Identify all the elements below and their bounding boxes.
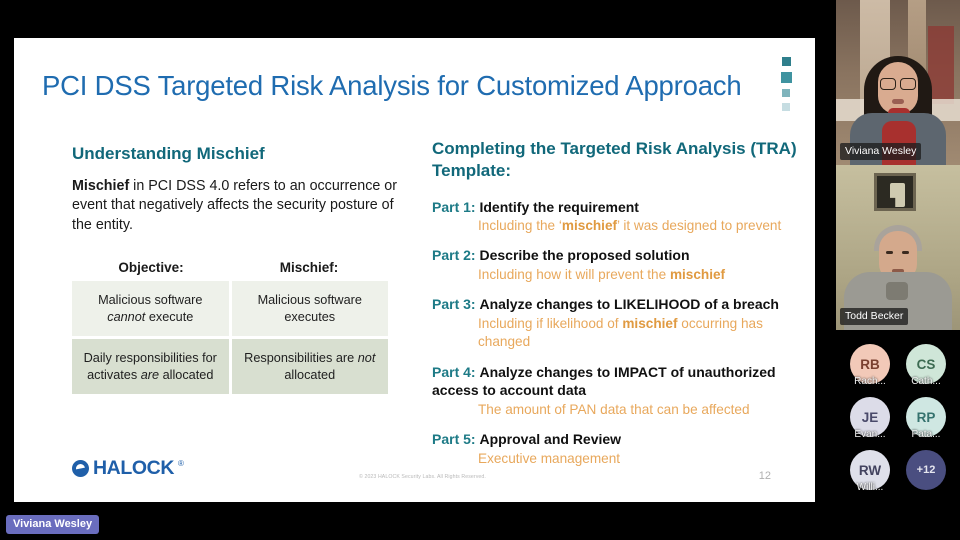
participant-name: Rach... [854, 376, 886, 387]
participant-rail: Viviana Wesley Todd Becker RB Rach [836, 0, 960, 540]
part-label: Part 1: [432, 199, 476, 215]
glasses-icon [880, 78, 916, 88]
part-subtext: Including how it will prevent the mischi… [432, 266, 798, 284]
cell-text-post: allocated [159, 368, 213, 382]
participant-name: Cath... [911, 376, 940, 387]
participant-name: Evan... [854, 429, 885, 440]
participant-tile-je[interactable]: JE Evan... [842, 397, 898, 440]
video-tile-name-label: Todd Becker [840, 308, 908, 325]
part-title: Approval and Review [479, 431, 621, 447]
video-tile-todd-becker[interactable]: Todd Becker [836, 165, 960, 330]
table-cell-objective: Daily responsibilities for activates are… [72, 339, 229, 394]
part-subtext-post: ’ it was designed to prevent [617, 218, 781, 233]
cell-text-post: execute [145, 310, 193, 324]
avatar-initials: RW [859, 463, 881, 478]
tra-part-1: Part 1: Identify the requirement Includi… [432, 198, 798, 236]
person-collar [886, 282, 908, 300]
part-main-line: Part 3: Analyze changes to LIKELIHOOD of… [432, 295, 798, 314]
table-header-row: Objective: Mischief: [72, 260, 388, 275]
table-cell-mischief: Malicious software executes [232, 281, 389, 336]
copyright-notice: © 2023 HALOCK Security Labs. All Rights … [359, 474, 486, 480]
table-row: Malicious software cannot execute Malici… [72, 281, 388, 336]
avatar-initials: RB [860, 357, 880, 372]
video-tile-name-label: Viviana Wesley [840, 143, 921, 160]
table-row: Daily responsibilities for activates are… [72, 339, 388, 394]
part-subtext: Executive management [432, 450, 798, 468]
cell-text-post: allocated [284, 368, 335, 382]
decorative-squares [775, 57, 797, 117]
part-subtext-pre: Including if likelihood of [478, 316, 622, 331]
cell-text-emphasis: are [141, 368, 159, 382]
participant-name: Pata... [912, 429, 941, 440]
person-eye-right [902, 251, 909, 254]
tra-part-4: Part 4: Analyze changes to IMPACT of una… [432, 363, 798, 420]
participant-tile-rw[interactable]: RW Willi... [842, 450, 898, 493]
slide-page-number: 12 [759, 470, 771, 482]
table-cell-objective: Malicious software cannot execute [72, 281, 229, 336]
part-subtext-pre: Including how it will prevent the [478, 267, 670, 282]
participant-name: Willi... [857, 482, 884, 493]
tra-part-2: Part 2: Describe the proposed solution I… [432, 246, 798, 284]
part-subtext: Including the ‘mischief’ it was designed… [432, 217, 798, 235]
presentation-slide: PCI DSS Targeted Risk Analysis for Custo… [14, 38, 815, 502]
video-background [836, 0, 960, 165]
halock-trademark-symbol: ® [178, 459, 184, 468]
part-main-line: Part 1: Identify the requirement [432, 198, 798, 217]
page-title: PCI DSS Targeted Risk Analysis for Custo… [42, 70, 772, 102]
left-column: Understanding Mischief Mischief in PCI D… [72, 143, 402, 236]
part-label: Part 3: [432, 296, 476, 312]
cell-text-emphasis: not [358, 351, 376, 365]
person-mouth [892, 99, 904, 104]
avatar-initials: JE [862, 410, 879, 425]
part-main-line: Part 5: Approval and Review [432, 430, 798, 449]
decorative-square-1 [782, 57, 791, 66]
objective-mischief-table: Objective: Mischief: Malicious software … [72, 260, 388, 394]
right-column: Completing the Targeted Risk Analysis (T… [432, 138, 798, 479]
tra-part-5: Part 5: Approval and Review Executive ma… [432, 430, 798, 468]
part-title: Analyze changes to IMPACT of unauthorize… [432, 364, 776, 399]
active-speaker-badge: Viviana Wesley [6, 515, 99, 534]
overflow-badge: +12 [906, 450, 946, 490]
cell-text-pre: Malicious software [98, 293, 202, 307]
avatar-initials: RP [917, 410, 936, 425]
part-label: Part 4: [432, 364, 476, 380]
part-main-line: Part 4: Analyze changes to IMPACT of una… [432, 363, 798, 400]
part-label: Part 2: [432, 247, 476, 263]
part-main-line: Part 2: Describe the proposed solution [432, 246, 798, 265]
part-subtext: The amount of PAN data that can be affec… [432, 401, 798, 419]
part-subtext-bold: mischief [622, 316, 677, 331]
part-subtext-bold: mischief [562, 218, 617, 233]
decorative-square-4 [782, 103, 790, 111]
table-header-objective: Objective: [72, 260, 230, 275]
part-subtext-pre: Including the ‘ [478, 218, 562, 233]
part-label: Part 5: [432, 431, 476, 447]
halock-globe-icon [72, 460, 89, 477]
video-background [836, 165, 960, 330]
part-subtext-pre: The amount of PAN data that can be affec… [478, 402, 750, 417]
tra-part-3: Part 3: Analyze changes to LIKELIHOOD of… [432, 295, 798, 351]
video-tile-viviana-wesley[interactable]: Viviana Wesley [836, 0, 960, 165]
decorative-square-2 [781, 72, 792, 83]
right-section-heading: Completing the Targeted Risk Analysis (T… [432, 138, 798, 182]
participant-avatar-grid: RB Rach... CS Cath... JE Evan... RP [836, 336, 960, 501]
part-subtext: Including if likelihood of mischief occu… [432, 315, 798, 352]
table-header-mischief: Mischief: [230, 260, 388, 275]
part-subtext-pre: Executive management [478, 451, 620, 466]
left-section-heading: Understanding Mischief [72, 143, 402, 165]
part-title: Analyze changes to LIKELIHOOD of a breac… [479, 296, 779, 312]
cell-text-pre: Malicious software executes [258, 293, 362, 324]
mischief-definition-term: Mischief [72, 178, 129, 194]
part-title: Identify the requirement [479, 199, 638, 215]
participant-tile-rb[interactable]: RB Rach... [842, 344, 898, 387]
participant-overflow-tile[interactable]: +12 [898, 450, 954, 493]
halock-wordmark: HALOCK [93, 457, 174, 480]
meeting-screen: PCI DSS Targeted Risk Analysis for Custo… [0, 0, 960, 540]
background-picture-frame [874, 173, 916, 211]
participant-tile-rp[interactable]: RP Pata... [898, 397, 954, 440]
halock-logo: HALOCK ® [72, 457, 184, 480]
participant-tile-cs[interactable]: CS Cath... [898, 344, 954, 387]
decorative-square-3 [782, 89, 790, 97]
part-subtext-bold: mischief [670, 267, 725, 282]
mischief-definition: Mischief in PCI DSS 4.0 refers to an occ… [72, 177, 402, 236]
person-eye-left [886, 251, 893, 254]
table-cell-mischief: Responsibilities are not allocated [232, 339, 389, 394]
cell-text-emphasis: cannot [107, 310, 145, 324]
cell-text-pre: Responsibilities are [244, 351, 358, 365]
part-title: Describe the proposed solution [479, 247, 689, 263]
avatar-initials: CS [917, 357, 936, 372]
